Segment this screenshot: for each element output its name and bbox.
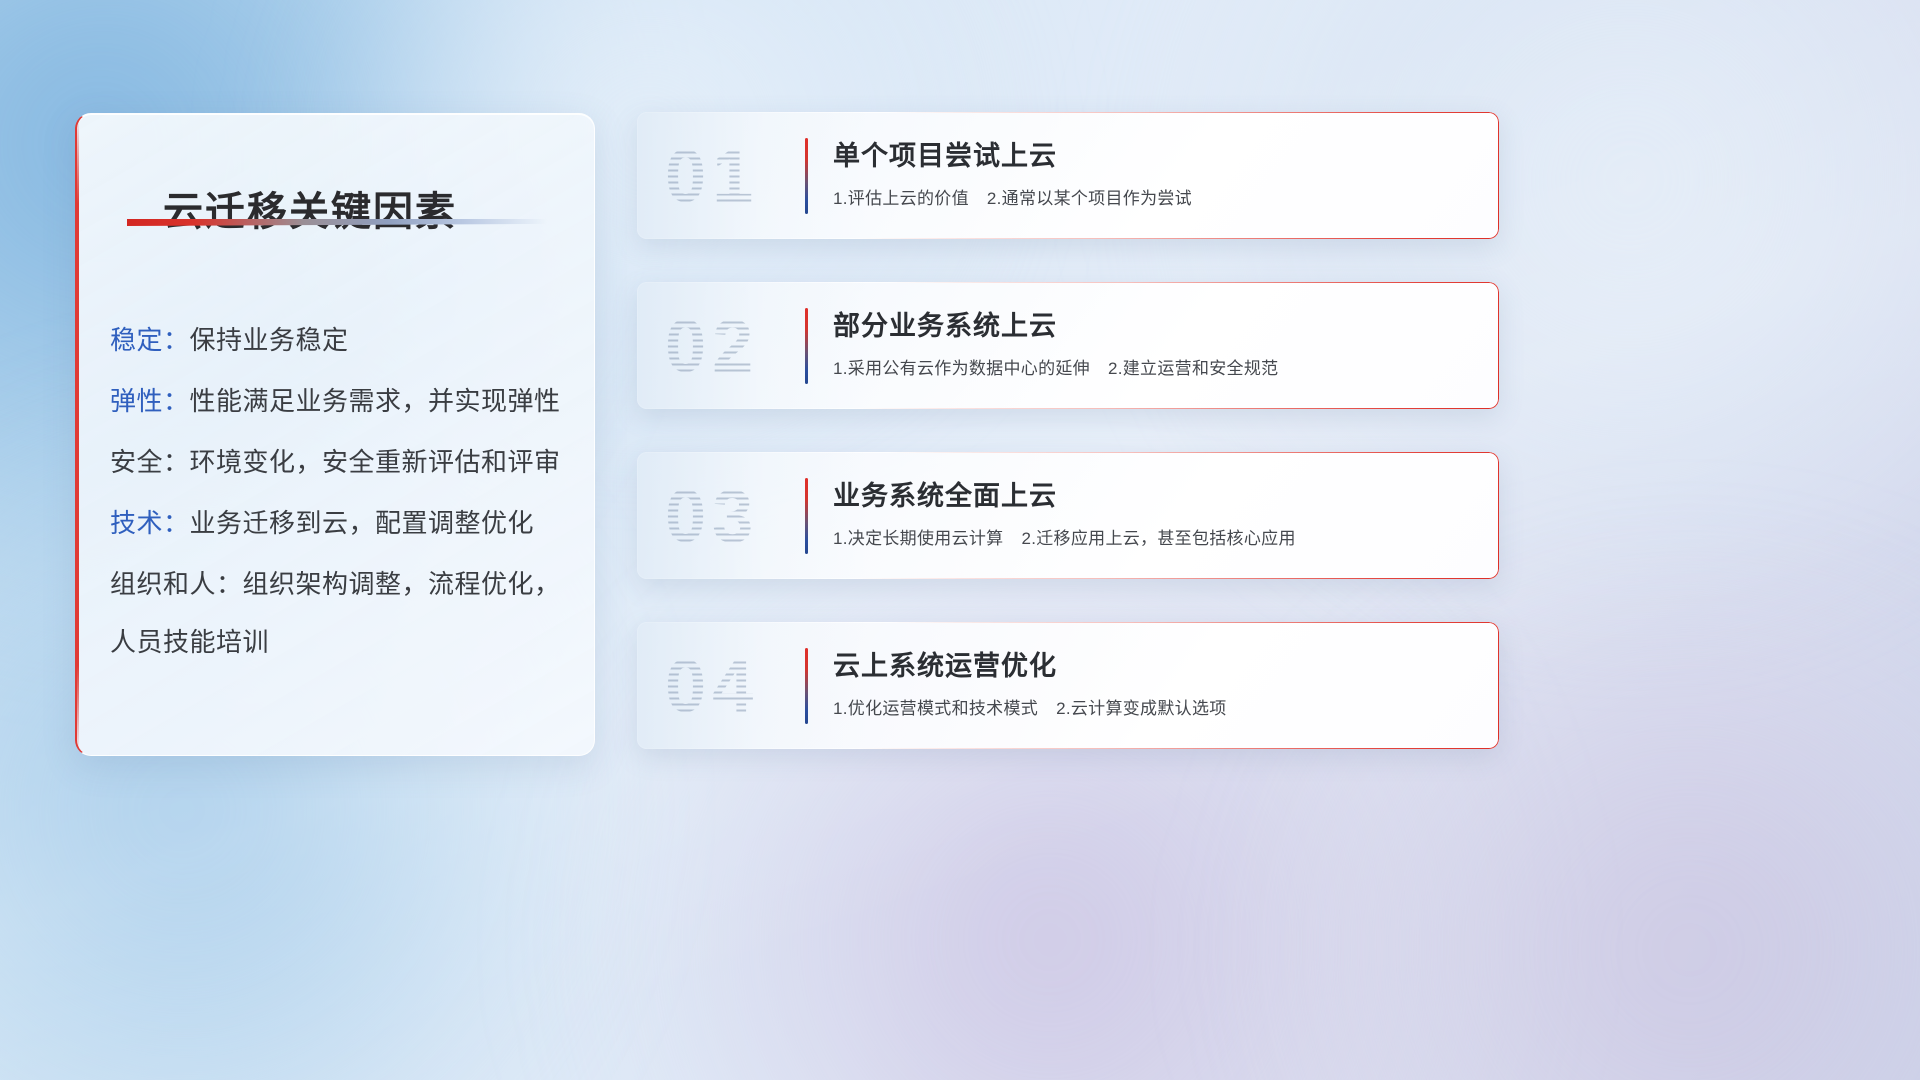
stage-number-01: 01 bbox=[665, 133, 759, 218]
stage-point-1: 1.采用公有云作为数据中心的延伸 bbox=[833, 359, 1090, 378]
title-underline-rule bbox=[127, 219, 547, 226]
key-factor-text: 保持业务稳定 bbox=[190, 325, 349, 355]
card-body: 单个项目尝试上云 1.评估上云的价值2.通常以某个项目作为尝试 bbox=[833, 134, 1475, 209]
key-factor-label: 弹性： bbox=[110, 386, 190, 416]
stage-point-2: 2.通常以某个项目作为尝试 bbox=[987, 189, 1192, 208]
key-factor-row-organization-continued: 人员技能培训 bbox=[110, 612, 576, 673]
key-factor-text: 业务迁移到云，配置调整优化 bbox=[190, 508, 535, 538]
accent-bar-icon bbox=[805, 648, 808, 724]
key-factor-text: 性能满足业务需求，并实现弹性 bbox=[190, 386, 561, 416]
card-body: 部分业务系统上云 1.采用公有云作为数据中心的延伸2.建立运营和安全规范 bbox=[833, 304, 1475, 379]
migration-stages-list: 01 单个项目尝试上云 1.评估上云的价值2.通常以某个项目作为尝试 02 部分… bbox=[637, 112, 1499, 792]
stage-card-04[interactable]: 04 云上系统运营优化 1.优化运营模式和技术模式2.云计算变成默认选项 bbox=[637, 622, 1499, 749]
stage-card-01[interactable]: 01 单个项目尝试上云 1.评估上云的价值2.通常以某个项目作为尝试 bbox=[637, 112, 1499, 239]
key-factors-list: 稳定：保持业务稳定 弹性：性能满足业务需求，并实现弹性 安全：环境变化，安全重新… bbox=[110, 310, 576, 673]
stage-point-1: 1.优化运营模式和技术模式 bbox=[833, 699, 1038, 718]
card-body: 业务系统全面上云 1.决定长期使用云计算2.迁移应用上云，甚至包括核心应用 bbox=[833, 474, 1475, 549]
stage-number-03: 03 bbox=[665, 473, 759, 558]
card-body: 云上系统运营优化 1.优化运营模式和技术模式2.云计算变成默认选项 bbox=[833, 644, 1475, 719]
key-factor-label: 安全： bbox=[110, 447, 190, 477]
stage-title: 业务系统全面上云 bbox=[833, 474, 1475, 513]
stage-number-02: 02 bbox=[665, 303, 759, 388]
key-factor-row-elasticity: 弹性：性能满足业务需求，并实现弹性 bbox=[110, 371, 576, 432]
stage-point-2: 2.迁移应用上云，甚至包括核心应用 bbox=[1021, 529, 1295, 548]
key-factor-row-technology: 技术：业务迁移到云，配置调整优化 bbox=[110, 493, 576, 554]
key-factor-text: 组织架构调整，流程优化， bbox=[243, 569, 561, 599]
stage-subtitle: 1.评估上云的价值2.通常以某个项目作为尝试 bbox=[833, 184, 1475, 209]
stage-subtitle: 1.优化运营模式和技术模式2.云计算变成默认选项 bbox=[833, 694, 1475, 719]
key-factor-label: 技术： bbox=[110, 508, 190, 538]
key-factor-label: 组织和人： bbox=[110, 569, 243, 599]
stage-card-02[interactable]: 02 部分业务系统上云 1.采用公有云作为数据中心的延伸2.建立运营和安全规范 bbox=[637, 282, 1499, 409]
key-factor-row-organization: 组织和人：组织架构调整，流程优化， bbox=[110, 554, 576, 615]
stage-title: 部分业务系统上云 bbox=[833, 304, 1475, 343]
stage-point-2: 2.云计算变成默认选项 bbox=[1056, 699, 1226, 718]
panel-title: 云迁移关键因素 bbox=[163, 179, 457, 237]
stage-subtitle: 1.决定长期使用云计算2.迁移应用上云，甚至包括核心应用 bbox=[833, 524, 1475, 549]
key-factor-text: 人员技能培训 bbox=[110, 627, 269, 657]
stage-number-04: 04 bbox=[665, 643, 759, 728]
stage-card-03[interactable]: 03 业务系统全面上云 1.决定长期使用云计算2.迁移应用上云，甚至包括核心应用 bbox=[637, 452, 1499, 579]
stage-point-2: 2.建立运营和安全规范 bbox=[1108, 359, 1278, 378]
key-factors-panel: 云迁移关键因素 稳定：保持业务稳定 弹性：性能满足业务需求，并实现弹性 安全：环… bbox=[75, 113, 595, 756]
stage-point-1: 1.评估上云的价值 bbox=[833, 189, 969, 208]
stage-title: 单个项目尝试上云 bbox=[833, 134, 1475, 173]
key-factor-text: 环境变化，安全重新评估和评审 bbox=[190, 447, 561, 477]
key-factor-label: 稳定： bbox=[110, 325, 190, 355]
key-factor-row-stability: 稳定：保持业务稳定 bbox=[110, 310, 576, 371]
accent-bar-icon bbox=[805, 308, 808, 384]
accent-bar-icon bbox=[805, 138, 808, 214]
stage-subtitle: 1.采用公有云作为数据中心的延伸2.建立运营和安全规范 bbox=[833, 354, 1475, 379]
accent-bar-icon bbox=[805, 478, 808, 554]
stage-title: 云上系统运营优化 bbox=[833, 644, 1475, 683]
key-factor-row-security: 安全：环境变化，安全重新评估和评审 bbox=[110, 432, 576, 493]
stage-point-1: 1.决定长期使用云计算 bbox=[833, 529, 1003, 548]
